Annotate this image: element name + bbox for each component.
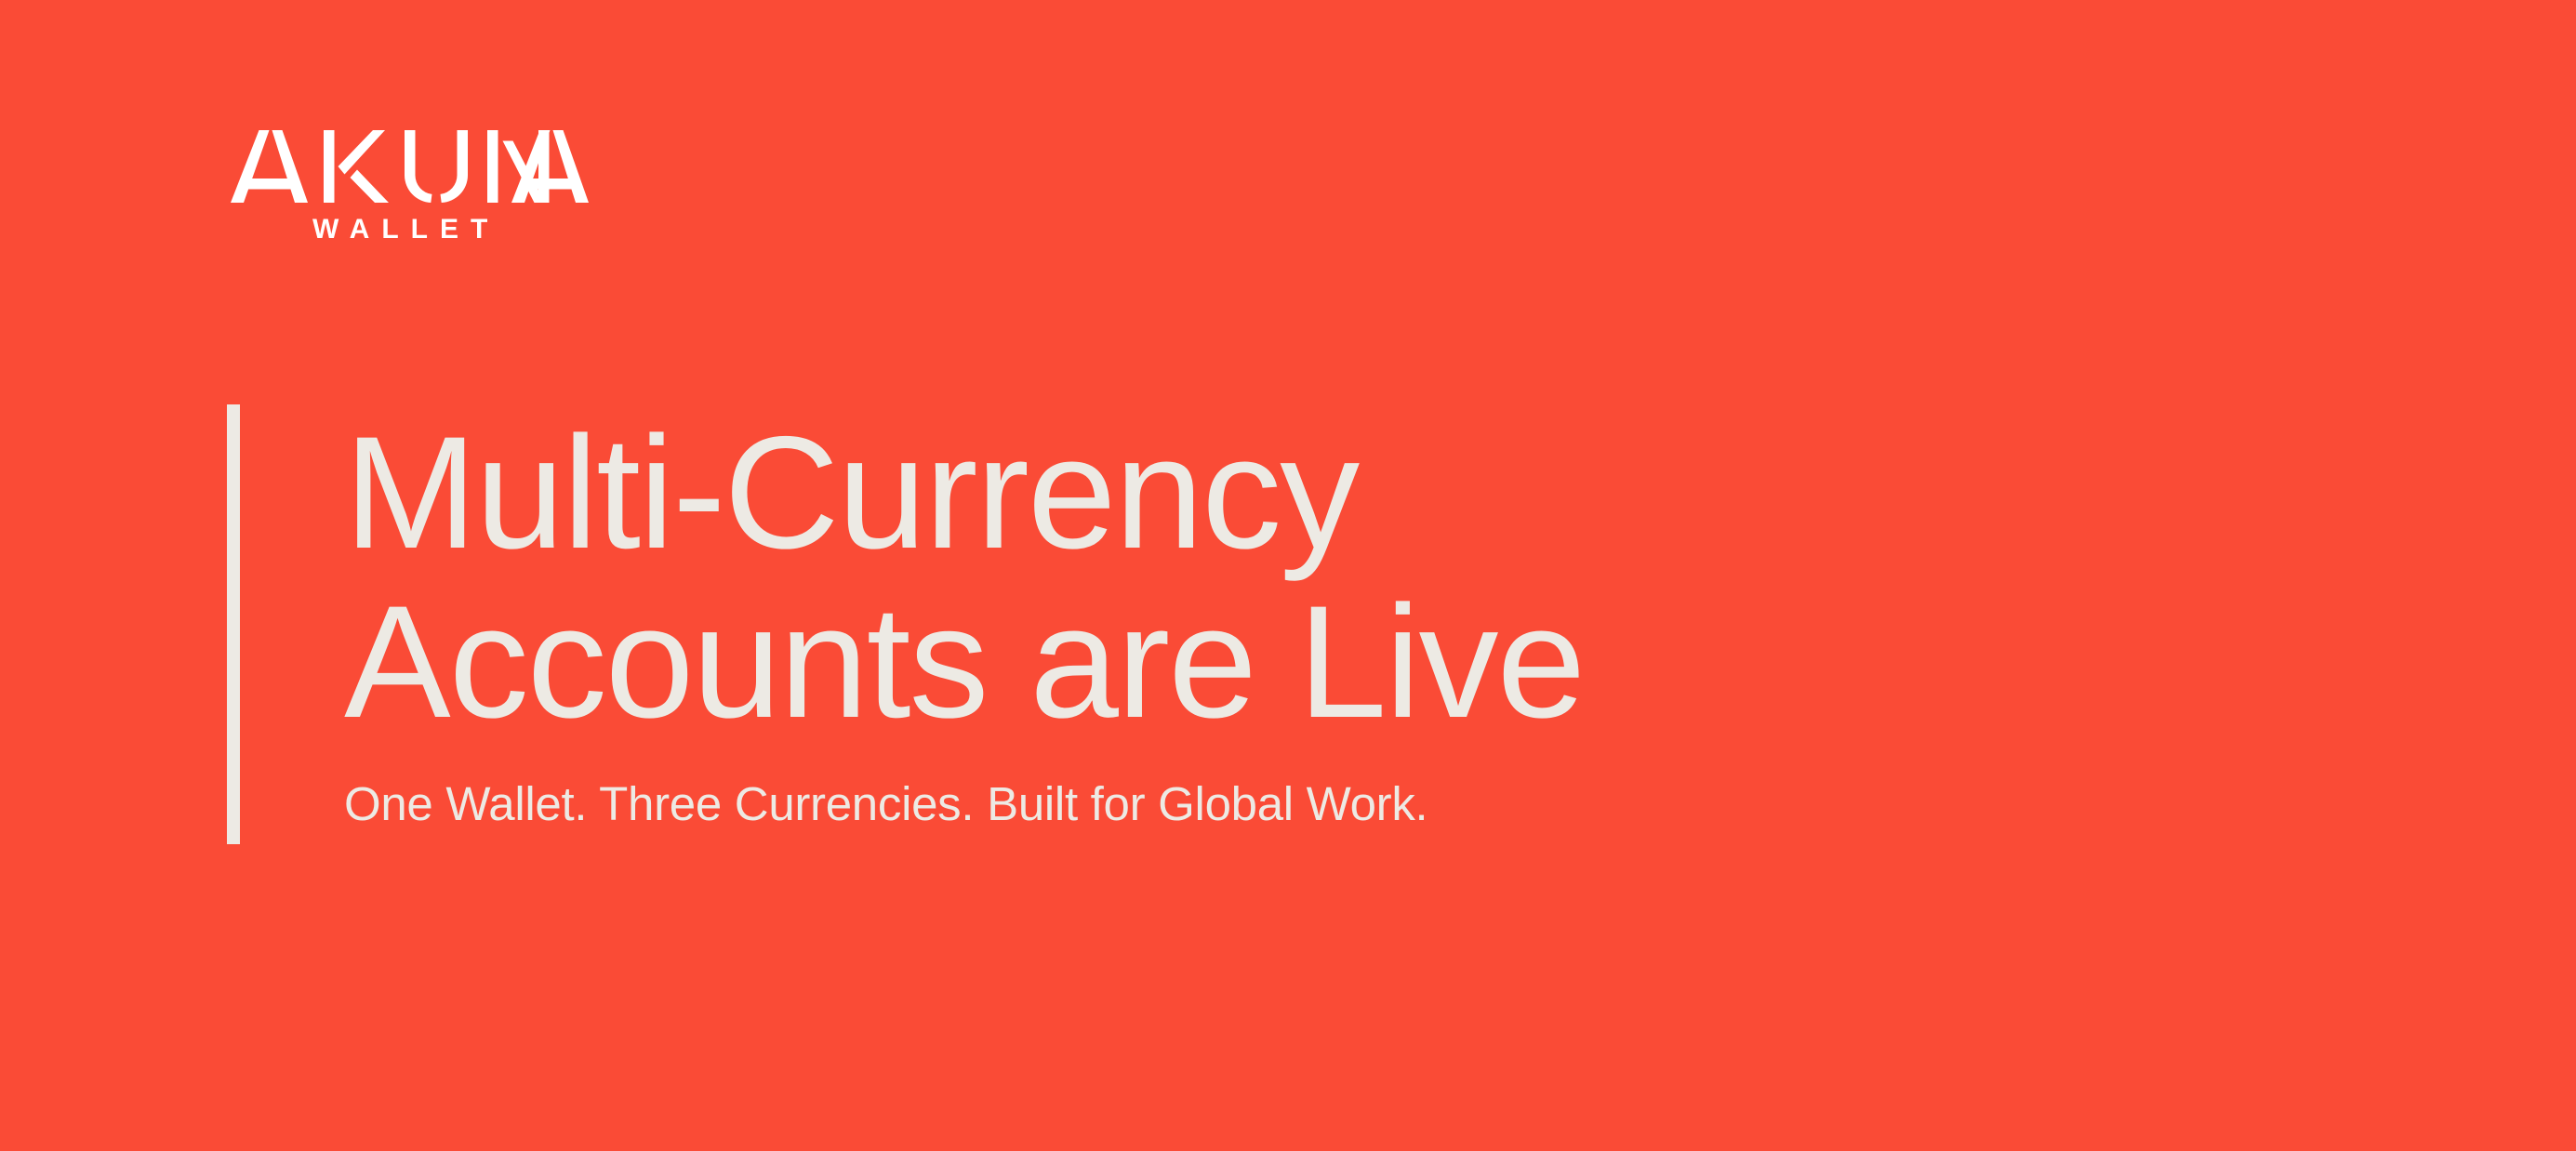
page-title: Multi-Currency Accounts are Live <box>344 408 1584 747</box>
brand-product-label: WALLET <box>312 216 603 244</box>
brand-logo[interactable]: WALLET <box>231 130 603 244</box>
hero-subtitle: One Wallet. Three Currencies. Built for … <box>344 775 1584 832</box>
accent-bar <box>227 404 240 844</box>
headline-line-1: Multi-Currency <box>344 408 1584 577</box>
hero-headline-group: Multi-Currency Accounts are Live One Wal… <box>227 404 1584 844</box>
akuna-wordmark-icon <box>231 130 589 203</box>
headline-line-2: Accounts are Live <box>344 577 1584 747</box>
hero-text-block: Multi-Currency Accounts are Live One Wal… <box>344 404 1584 844</box>
promo-banner: WALLET Multi-Currency Accounts are Live … <box>0 0 2576 1151</box>
